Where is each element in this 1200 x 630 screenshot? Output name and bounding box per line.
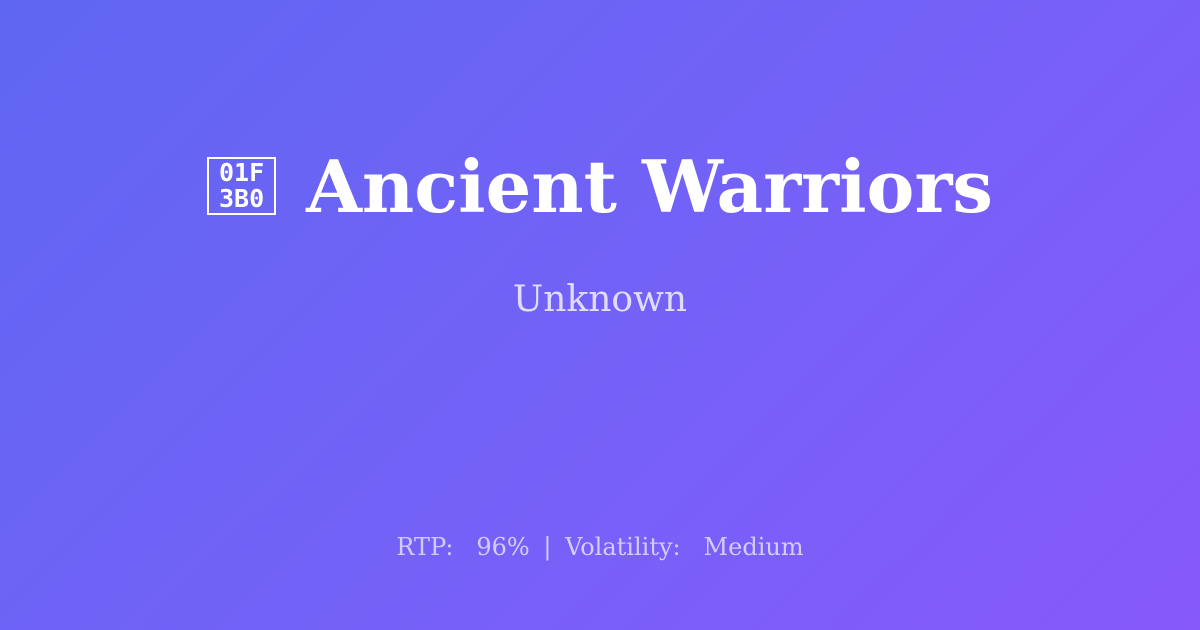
card-hero: 01F 3B0 Ancient Warriors Unknown xyxy=(0,0,1200,470)
tofu-codepoint-line-2: 3B0 xyxy=(219,186,264,212)
volatility-label: Volatility: xyxy=(565,533,681,561)
card-footer: RTP: 96% | Volatility: Medium xyxy=(0,533,1200,562)
tofu-codepoint-line-1: 01F xyxy=(219,160,264,186)
rtp-label: RTP: xyxy=(396,533,453,561)
slot-machine-emoji-icon: 01F 3B0 xyxy=(207,157,276,215)
card-subtitle: Unknown xyxy=(513,278,687,321)
page-title: Ancient Warriors xyxy=(306,149,993,225)
title-row: 01F 3B0 Ancient Warriors xyxy=(60,149,1140,225)
volatility-value: Medium xyxy=(704,533,804,561)
rtp-value: 96% xyxy=(476,533,529,561)
game-meta-line: RTP: 96% | Volatility: Medium xyxy=(396,533,803,562)
game-og-card: 01F 3B0 Ancient Warriors Unknown RTP: 96… xyxy=(0,0,1200,630)
meta-separator: | xyxy=(537,533,557,561)
